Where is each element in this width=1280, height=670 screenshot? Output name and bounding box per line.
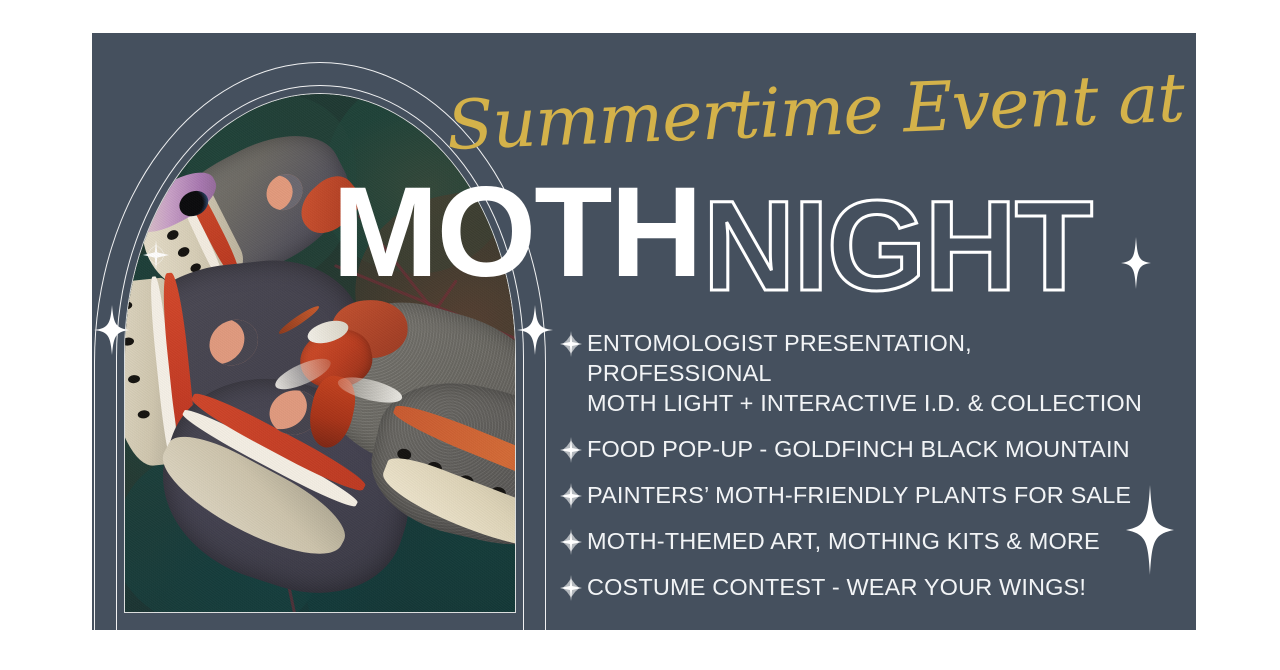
title-moth: MOTH bbox=[332, 173, 701, 293]
poster-canvas: Summertime Event at Painters MOTH NIGHT … bbox=[0, 0, 1280, 670]
main-title: MOTH NIGHT bbox=[332, 173, 1091, 303]
sparkle-star-icon bbox=[560, 437, 582, 463]
event-feature-list: ENTOMOLOGIST PRESENTATION, PROFESSIONAL … bbox=[560, 328, 1160, 618]
title-night: NIGHT bbox=[703, 187, 1091, 307]
sparkle-star-icon bbox=[560, 529, 582, 555]
list-item-label: MOTH-THEMED ART, MOTHING KITS & MORE bbox=[587, 526, 1100, 556]
list-item-label: ENTOMOLOGIST PRESENTATION, PROFESSIONAL … bbox=[587, 328, 1160, 418]
list-item: PAINTERS’ MOTH-FRIENDLY PLANTS FOR SALE bbox=[560, 480, 1160, 510]
list-item: FOOD POP-UP - GOLDFINCH BLACK MOUNTAIN bbox=[560, 434, 1160, 464]
sparkle-star-icon bbox=[560, 483, 582, 509]
flyer-panel: Summertime Event at Painters MOTH NIGHT … bbox=[92, 33, 1196, 630]
list-item: COSTUME CONTEST - WEAR YOUR WINGS! bbox=[560, 572, 1160, 602]
list-item-label: COSTUME CONTEST - WEAR YOUR WINGS! bbox=[587, 572, 1086, 602]
sparkle-star-icon bbox=[560, 331, 582, 357]
sparkle-star-icon bbox=[560, 575, 582, 601]
list-item: ENTOMOLOGIST PRESENTATION, PROFESSIONAL … bbox=[560, 328, 1160, 418]
list-item-label: PAINTERS’ MOTH-FRIENDLY PLANTS FOR SALE bbox=[587, 480, 1131, 510]
sparkle-diamond-title-right-icon bbox=[1121, 237, 1151, 289]
list-item: MOTH-THEMED ART, MOTHING KITS & MORE bbox=[560, 526, 1160, 556]
list-item-label: FOOD POP-UP - GOLDFINCH BLACK MOUNTAIN bbox=[587, 434, 1130, 464]
